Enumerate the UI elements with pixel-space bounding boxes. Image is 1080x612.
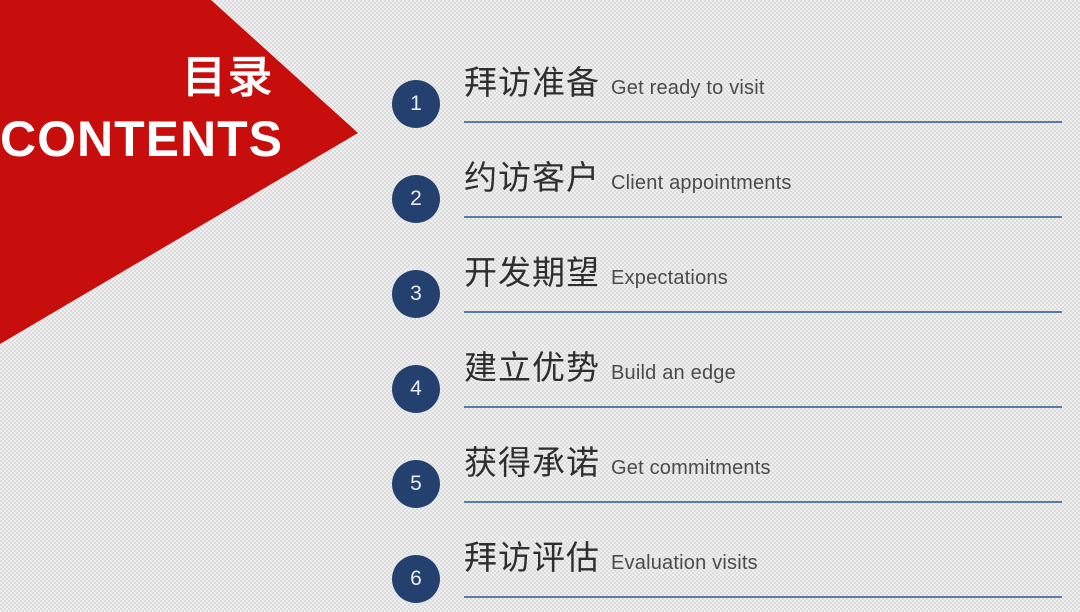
toc-title-cn: 拜访准备 (464, 56, 600, 104)
toc-number-badge: 6 (392, 555, 440, 603)
toc-item-5[interactable]: 5 获得承诺 Get commitments (388, 436, 1064, 531)
toc-item-titles: 获得承诺 Get commitments (464, 436, 1064, 488)
toc-item-body: 建立优势 Build an edge (464, 341, 1064, 393)
toc-number-badge: 2 (392, 175, 440, 223)
toc-number-badge: 4 (392, 365, 440, 413)
toc-title-en: Build an edge (611, 362, 736, 385)
toc-number-badge: 5 (392, 460, 440, 508)
toc-item-body: 拜访准备 Get ready to visit (464, 56, 1064, 108)
toc-title-cn: 拜访评估 (464, 531, 600, 579)
toc-title-en: Client appointments (611, 172, 792, 195)
toc-item-body: 拜访评估 Evaluation visits (464, 531, 1064, 583)
toc-item-divider (464, 311, 1062, 313)
toc-item-titles: 拜访准备 Get ready to visit (464, 56, 1064, 108)
toc-title-cn: 约访客户 (464, 151, 600, 199)
toc-item-divider (464, 216, 1062, 218)
toc-item-divider (464, 596, 1062, 598)
toc-item-divider (464, 501, 1062, 503)
toc-number-badge: 3 (392, 270, 440, 318)
toc-title-en: Expectations (611, 267, 728, 290)
slide-canvas: 目录 CONTENTS 1 拜访准备 Get ready to visit 2 … (0, 0, 1080, 612)
toc-item-titles: 建立优势 Build an edge (464, 341, 1064, 393)
toc-item-2[interactable]: 2 约访客户 Client appointments (388, 151, 1064, 246)
toc-title-cn: 获得承诺 (464, 436, 600, 484)
toc-item-body: 获得承诺 Get commitments (464, 436, 1064, 488)
toc-item-1[interactable]: 1 拜访准备 Get ready to visit (388, 56, 1064, 151)
toc-item-body: 开发期望 Expectations (464, 246, 1064, 298)
toc-item-4[interactable]: 4 建立优势 Build an edge (388, 341, 1064, 436)
red-arrow-shape (0, 0, 360, 346)
toc-item-divider (464, 121, 1062, 123)
toc-item-3[interactable]: 3 开发期望 Expectations (388, 246, 1064, 341)
table-of-contents: 1 拜访准备 Get ready to visit 2 约访客户 Client … (388, 56, 1064, 612)
toc-item-6[interactable]: 6 拜访评估 Evaluation visits (388, 531, 1064, 612)
toc-title-cn: 建立优势 (464, 341, 600, 389)
contents-banner: 目录 CONTENTS (0, 0, 360, 346)
toc-item-divider (464, 406, 1062, 408)
toc-title-en: Evaluation visits (611, 552, 758, 575)
toc-item-body: 约访客户 Client appointments (464, 151, 1064, 203)
toc-item-titles: 约访客户 Client appointments (464, 151, 1064, 203)
toc-item-titles: 拜访评估 Evaluation visits (464, 531, 1064, 583)
toc-title-en: Get commitments (611, 457, 771, 480)
toc-number-badge: 1 (392, 80, 440, 128)
toc-item-titles: 开发期望 Expectations (464, 246, 1064, 298)
toc-title-en: Get ready to visit (611, 77, 765, 100)
toc-title-cn: 开发期望 (464, 246, 600, 294)
